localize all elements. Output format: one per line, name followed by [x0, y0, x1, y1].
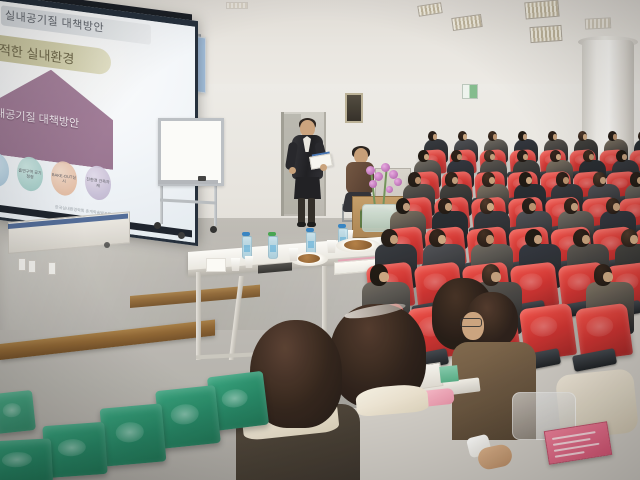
whiteboard-wheel-icon: [154, 222, 161, 229]
snack-food: [344, 240, 372, 250]
audience-face: [424, 154, 429, 160]
orchid-bloom: [369, 180, 377, 188]
whiteboard-wheel-icon: [178, 232, 185, 239]
orchid-bloom: [381, 163, 390, 172]
orchid-bloom: [374, 172, 383, 181]
audience-face: [603, 272, 612, 283]
whiteboard-marker-icon: [198, 176, 206, 181]
audience-face: [622, 154, 627, 160]
booklet-text-line: [555, 451, 585, 458]
slide-oval-1: 환기: [0, 151, 9, 188]
audience-face: [523, 154, 528, 160]
seat-armrest[interactable]: [572, 348, 617, 371]
floor-marker-icon: [104, 242, 110, 248]
slide-oval-3: BAKE-OUT실시: [51, 160, 77, 197]
eyeglasses-icon: [460, 318, 482, 327]
presenter-leg: [308, 198, 315, 224]
tray-item-drink: [439, 365, 459, 383]
presenter-skirt: [294, 177, 321, 199]
auditorium-photo: 발표회 학술발표회 국립대학교 환경공학과 실내공기질 대책방안 쾌적한 실내환…: [0, 0, 640, 480]
presenter-shoe: [307, 222, 316, 227]
exit-sign-icon: [462, 84, 478, 99]
audience-face: [589, 154, 594, 160]
presenter-hand-right: [320, 164, 327, 171]
slide-oval-4: 친환경 건축자재: [85, 164, 111, 201]
floor-outlet: [28, 260, 36, 273]
snack-food: [298, 254, 320, 263]
slide-oval-2: 흡연구역 공기청정: [17, 155, 43, 192]
audience-face: [490, 154, 495, 160]
audience-face: [583, 134, 588, 139]
floor-outlet: [48, 262, 56, 275]
whiteboard: [158, 118, 224, 186]
ceiling-light-icon: [529, 25, 562, 43]
presenter-hand-left: [289, 167, 296, 174]
ceiling-light-icon: [585, 17, 612, 29]
audience-face: [463, 134, 468, 139]
green-seat[interactable]: [155, 385, 221, 449]
ceiling-light-icon: [524, 0, 559, 19]
water-bottle: [268, 236, 278, 259]
audience-face: [491, 272, 500, 283]
orchid-bloom: [386, 186, 393, 193]
whiteboard-tray: [158, 180, 218, 184]
napkin-stack: [206, 258, 226, 272]
presenter-shoe: [297, 222, 306, 227]
water-bottle: [242, 236, 252, 259]
green-seat[interactable]: [100, 403, 167, 466]
audience-face: [556, 154, 561, 160]
whiteboard-wheel-icon: [210, 226, 217, 233]
table-leg: [196, 272, 201, 360]
ceiling-light-icon: [226, 2, 248, 9]
presenter-leg: [298, 198, 305, 224]
wall-speaker-icon: [345, 93, 363, 123]
audience-face: [379, 272, 388, 283]
audience-face: [553, 134, 558, 139]
presenter: [286, 120, 330, 228]
floor-outlet: [18, 258, 26, 271]
audience-face: [433, 134, 438, 139]
audience-face: [457, 154, 462, 160]
audience-face: [523, 134, 528, 139]
green-seat[interactable]: [0, 438, 53, 480]
audience-face: [493, 134, 498, 139]
audience-face: [613, 134, 618, 139]
orchid-bloom: [394, 178, 402, 186]
green-seat[interactable]: [0, 390, 36, 434]
